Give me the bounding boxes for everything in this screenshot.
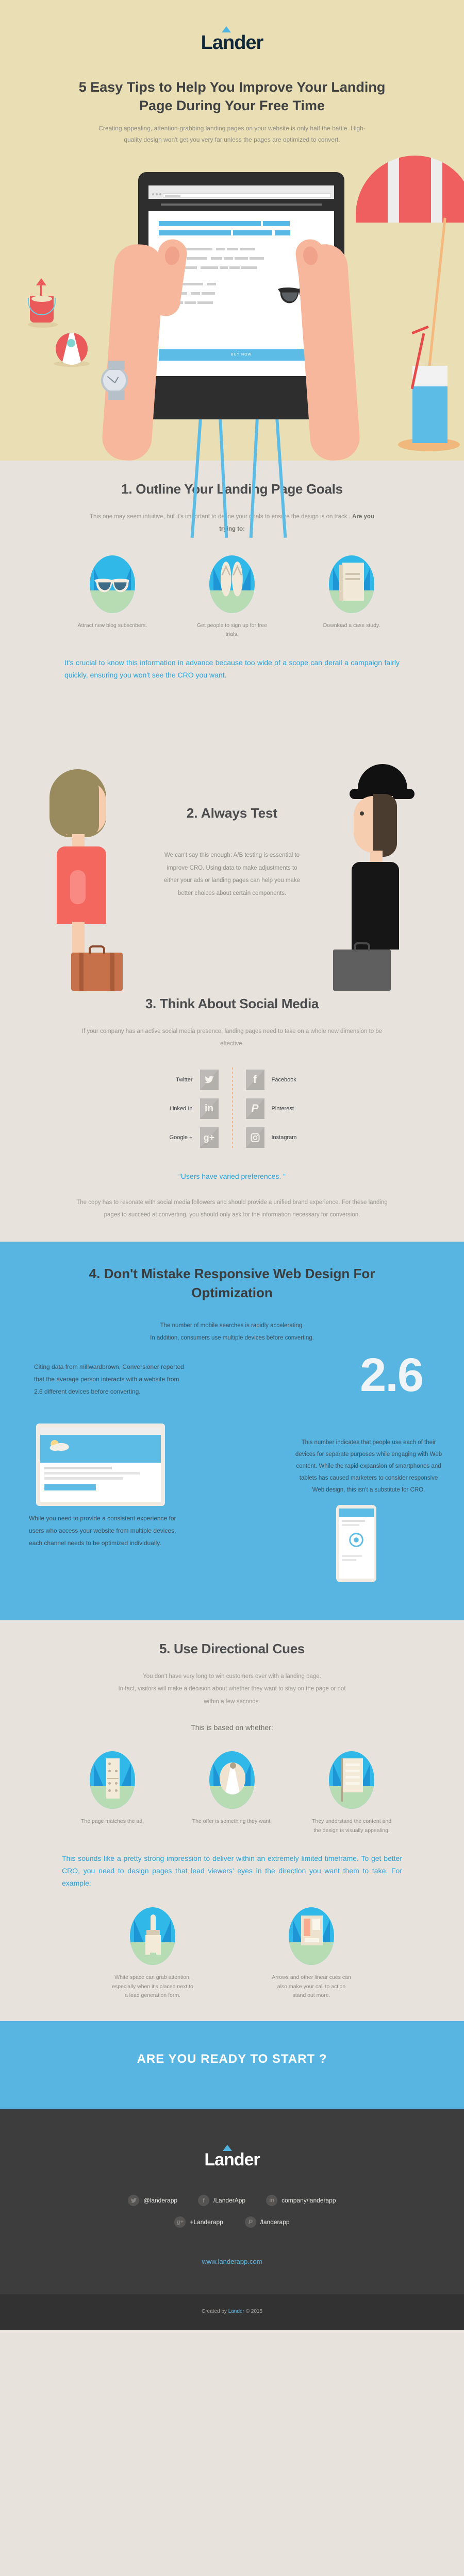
page-title: 5 Easy Tips to Help You Improve Your Lan… — [67, 78, 397, 115]
browser-bar — [148, 185, 334, 199]
sand-bucket-icon — [30, 296, 54, 323]
section4-lead: The number of mobile searches is rapidly… — [88, 1319, 376, 1344]
social-item-twitter[interactable]: Twitter — [153, 1070, 219, 1090]
drink-glass-icon — [407, 342, 454, 445]
footer-brand-name: Lander — [204, 2150, 259, 2170]
footer-logo: Lander — [0, 2139, 464, 2170]
google-plus-icon: g+ — [174, 2216, 186, 2228]
section1-icon-row: Attract new blog subscribers. Get people… — [0, 555, 464, 640]
section3-quote: “Users have varied preferences. “ — [64, 1171, 400, 1183]
paint-brush-icon — [130, 1907, 175, 1965]
copyright-prefix: Created by — [202, 2309, 228, 2314]
header-logo: Lander — [0, 21, 464, 54]
section4-paragraph-left-bottom: While you need to provide a consistent e… — [29, 1512, 184, 1549]
social-item-googleplus[interactable]: Google + g+ — [153, 1127, 219, 1148]
legs-illustration — [186, 414, 299, 548]
cue-caption: The page matches the ad. — [72, 1817, 153, 1826]
twitter-icon — [128, 2195, 139, 2206]
footer-social-row-2: g+ +Landerapp P /landerapp — [0, 2216, 464, 2228]
beach-ball-icon — [209, 1751, 255, 1809]
section5-lead: You don't have very long to win customer… — [67, 1670, 397, 1707]
linkedin-icon: in — [266, 2195, 277, 2206]
cue-caption: They understand the content and the desi… — [311, 1817, 392, 1836]
pinterest-icon: P — [245, 2216, 256, 2228]
cue-item: They understand the content and the desi… — [311, 1751, 392, 1836]
social-item-pinterest[interactable]: P Pinterest — [246, 1098, 312, 1119]
site-nav-strip — [148, 199, 334, 211]
pinterest-icon[interactable]: P — [246, 1098, 264, 1119]
tablet-mockup — [36, 1423, 165, 1506]
book-icon — [329, 555, 374, 613]
example-item: Arrows and other linear cues can also ma… — [271, 1907, 352, 2001]
social-item-facebook[interactable]: f Facebook — [246, 1070, 312, 1090]
cue-caption: The offer is something they want. — [191, 1817, 273, 1826]
section2-heading: 2. Always Test — [0, 805, 464, 821]
section5-highlight: This sounds like a pretty strong impress… — [62, 1853, 402, 1889]
towel-icon — [289, 1907, 334, 1965]
twitter-icon[interactable] — [200, 1070, 219, 1090]
section5-lead-line3: within a few seconds. — [67, 1696, 397, 1708]
buy-now-button[interactable]: BUY NOW — [159, 349, 324, 361]
section2-body: We can't say this enough: A/B testing is… — [160, 849, 304, 900]
linkedin-icon[interactable]: in — [200, 1098, 219, 1119]
footer-social-handle: /landerapp — [260, 2218, 290, 2226]
lander-caret-icon — [223, 2145, 232, 2151]
section1-highlight: It's crucial to know this information in… — [64, 657, 400, 682]
footer-social-handle: @landerapp — [143, 2197, 177, 2204]
cta-banner: ARE YOU READY TO START ? — [0, 2021, 464, 2109]
goal-item: Get people to sign up for free trials. — [191, 555, 273, 640]
example-item: White space can grab attention, especial… — [112, 1907, 193, 2001]
google-plus-icon[interactable]: g+ — [200, 1127, 219, 1148]
footer-social-handle: /LanderApp — [213, 2197, 245, 2204]
facebook-icon: f — [198, 2195, 209, 2206]
section4-paragraph-right: This number indicates that people use ea… — [294, 1437, 443, 1496]
instagram-icon[interactable] — [246, 1127, 264, 1148]
social-grid-divider — [232, 1067, 233, 1150]
character-young-man — [39, 769, 153, 991]
section5-lead-line1: You don't have very long to win customer… — [67, 1670, 397, 1683]
copyright-brand: Lander — [228, 2309, 244, 2314]
wristwatch-icon — [101, 367, 128, 394]
social-label: Facebook — [272, 1077, 312, 1083]
section3-body: The copy has to resonate with social med… — [75, 1196, 389, 1221]
copyright-text: Created by Lander © 2015 — [0, 2309, 464, 2314]
footer-social-twitter[interactable]: @landerapp — [128, 2195, 177, 2206]
section-directional-cues: 5. Use Directional Cues You don't have v… — [0, 1620, 464, 2021]
section3-lead: If your company has an active social med… — [77, 1025, 387, 1050]
footer-social-facebook[interactable]: f /LanderApp — [198, 2195, 245, 2206]
section4-lead-line2: In addition, consumers use multiple devi… — [88, 1332, 376, 1344]
cue-item: The page matches the ad. — [72, 1751, 153, 1836]
section5-lead-line2: In fact, visitors will make a decision a… — [67, 1683, 397, 1695]
social-item-linkedin[interactable]: Linked In in — [153, 1098, 219, 1119]
goal-caption: Download a case study. — [311, 621, 392, 631]
footer-social-linkedin[interactable]: in company/landerapp — [266, 2195, 336, 2206]
section-responsive-design: 4. Don't Mistake Responsive Web Design F… — [0, 1242, 464, 1620]
section-always-test: 2. Always Test We can't say this enough:… — [0, 702, 464, 991]
window-dots-icon — [152, 189, 163, 198]
footer-social-handle: +Landerapp — [190, 2218, 223, 2226]
lander-caret-icon — [222, 26, 231, 32]
beach-ball-icon — [56, 333, 88, 365]
example-caption: Arrows and other linear cues can also ma… — [271, 1973, 352, 2001]
address-bar[interactable] — [163, 193, 331, 198]
section5-heading: 5. Use Directional Cues — [0, 1641, 464, 1657]
social-network-grid: Twitter Linked In in Google + g+ f — [0, 1067, 464, 1150]
section-social-media: 3. Think About Social Media If your comp… — [0, 991, 464, 1242]
cue-item: The offer is something they want. — [191, 1751, 273, 1836]
social-label: Twitter — [153, 1077, 193, 1083]
brand-name: Lander — [201, 32, 263, 54]
section4-paragraph-left-top: Citing data from millwardbrown, Conversi… — [34, 1361, 189, 1398]
sunglasses-icon — [90, 555, 135, 613]
social-column-left: Twitter Linked In in Google + g+ — [153, 1070, 219, 1148]
goal-caption: Attract new blog subscribers. — [72, 621, 153, 631]
cta-heading: ARE YOU READY TO START ? — [0, 2052, 464, 2066]
copyright-suffix: © 2015 — [244, 2309, 262, 2314]
social-label: Google + — [153, 1134, 193, 1141]
stat-big-number: 2.6 — [360, 1348, 423, 1402]
goal-caption: Get people to sign up for free trials. — [191, 621, 273, 640]
hero-section: Lander 5 Easy Tips to Help You Improve Y… — [0, 0, 464, 461]
briefcase-icon — [333, 950, 391, 991]
goal-item: Download a case study. — [311, 555, 392, 640]
section5-icon-row: The page matches the ad. The offer is so… — [0, 1751, 464, 1836]
page-subtitle: Creating appealing, attention-grabbing l… — [98, 123, 366, 145]
flip-flops-icon — [209, 555, 255, 613]
section5-example-row: White space can grab attention, especial… — [0, 1907, 464, 2001]
section4-content: Citing data from millwardbrown, Conversi… — [0, 1358, 464, 1600]
facebook-icon[interactable]: f — [246, 1070, 264, 1090]
suitcase-icon — [71, 953, 123, 991]
character-man-bowler-hat — [306, 764, 425, 991]
footer-website-link[interactable]: www.landerapp.com — [0, 2258, 464, 2265]
footer: Lander @landerapp f /LanderApp in compan… — [0, 2109, 464, 2330]
footer-social-handle: company/landerapp — [281, 2197, 336, 2204]
footer-social-googleplus[interactable]: g+ +Landerapp — [174, 2216, 223, 2228]
footer-social-pinterest[interactable]: P /landerapp — [245, 2216, 290, 2228]
goal-item: Attract new blog subscribers. — [72, 555, 153, 640]
section3-heading: 3. Think About Social Media — [0, 996, 464, 1012]
section4-lead-line1: The number of mobile searches is rapidly… — [88, 1319, 376, 1332]
footer-copyright-bar: Created by Lander © 2015 — [0, 2294, 464, 2330]
beach-illustration: BUY NOW — [0, 151, 464, 461]
notepad-icon — [329, 1751, 374, 1809]
section4-heading: 4. Don't Mistake Responsive Web Design F… — [72, 1264, 392, 1302]
infographic-page: Lander 5 Easy Tips to Help You Improve Y… — [0, 0, 464, 2330]
beach-umbrella-icon — [356, 156, 464, 223]
footer-social-row-1: @landerapp f /LanderApp in company/lande… — [0, 2195, 464, 2206]
section5-based-on-label: This is based on whether: — [0, 1723, 464, 1732]
phone-mockup — [336, 1505, 376, 1582]
social-column-right: f Facebook P Pinterest Instagra — [246, 1070, 312, 1148]
social-label: Pinterest — [272, 1106, 312, 1112]
social-label: Linked In — [153, 1106, 193, 1112]
social-label: Instagram — [272, 1134, 312, 1141]
domino-icon — [90, 1751, 135, 1809]
bucket-shadow — [28, 321, 58, 328]
example-caption: White space can grab attention, especial… — [112, 1973, 193, 2001]
social-item-instagram[interactable]: Instagram — [246, 1127, 312, 1148]
